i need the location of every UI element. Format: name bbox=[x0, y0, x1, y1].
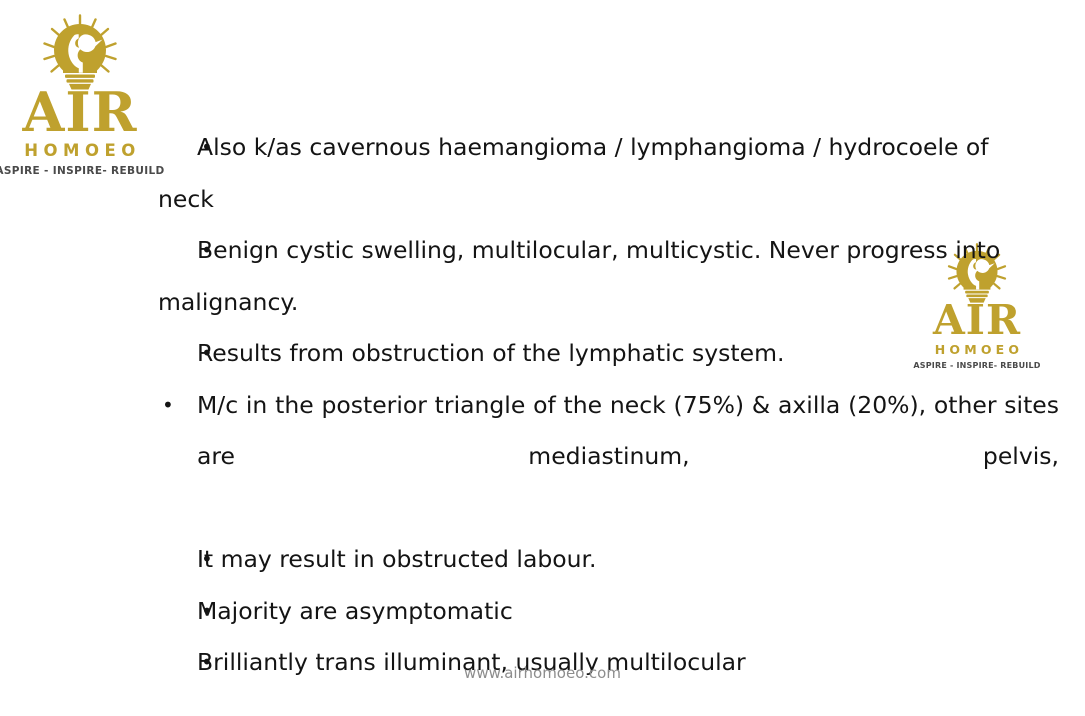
bullet-text: It may result in obstructed labour. bbox=[197, 545, 597, 573]
bullet-text: Benign cystic swelling, multilocular, mu… bbox=[158, 236, 1000, 316]
logo-tagline: ASPIRE - INSPIRE- REBUILD bbox=[0, 165, 165, 177]
bullet-item: •M/c in the posterior triangle of the ne… bbox=[158, 380, 1059, 535]
bullet-item: •Benign cystic swelling, multilocular, m… bbox=[158, 225, 1030, 328]
bullet-item: •It may result in obstructed labour. bbox=[158, 534, 1030, 586]
bullet-item: •Results from obstruction of the lymphat… bbox=[158, 328, 1030, 380]
bullet-marker: • bbox=[162, 122, 176, 174]
bullet-marker: • bbox=[162, 534, 176, 586]
footer-website: www.airhomoeo.com bbox=[0, 664, 1085, 682]
bullet-marker: • bbox=[162, 380, 176, 432]
logo-wordmark-homoeo: HOMOEO bbox=[19, 141, 141, 160]
bullet-item: •Majority are asymptomatic bbox=[158, 586, 1030, 638]
slide-body-content: •Also k/as cavernous haemangioma / lymph… bbox=[158, 122, 1030, 689]
logo-wordmark-air: AIR bbox=[22, 88, 137, 138]
bullet-text: M/c in the posterior triangle of the nec… bbox=[197, 391, 1059, 471]
bullet-marker: • bbox=[162, 328, 176, 380]
bullet-text: Also k/as cavernous haemangioma / lympha… bbox=[158, 133, 989, 213]
bullet-marker: • bbox=[162, 586, 176, 638]
bullet-marker: • bbox=[162, 225, 176, 277]
bullet-item: •Also k/as cavernous haemangioma / lymph… bbox=[158, 122, 1030, 225]
presentation-slide: AIR HOMOEO ASPIRE - INSPIRE- REBUILD bbox=[0, 0, 1085, 716]
air-homoeo-logo-primary: AIR HOMOEO ASPIRE - INSPIRE- REBUILD bbox=[14, 14, 146, 177]
lightbulb-logo-icon bbox=[32, 14, 128, 90]
bullet-text: Majority are asymptomatic bbox=[197, 597, 513, 625]
bullet-text: Results from obstruction of the lymphati… bbox=[197, 339, 784, 367]
